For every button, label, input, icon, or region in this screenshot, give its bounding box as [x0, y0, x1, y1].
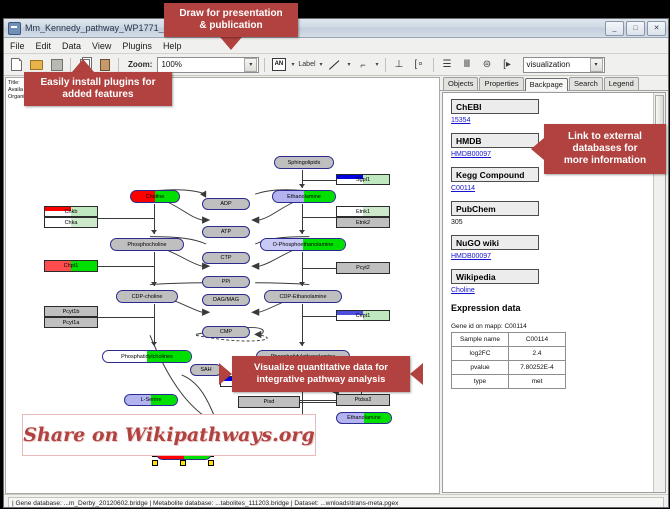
gene-pcyt1b[interactable]: Pcyt1b — [44, 306, 98, 317]
metabolite-label: L-Serine — [141, 397, 162, 403]
visualization-combobox[interactable]: visualization ▾ — [523, 57, 605, 73]
edge-pcyt2-connector — [302, 268, 336, 269]
metabolite-atp[interactable]: ATP — [202, 226, 250, 238]
expression-data-heading: Expression data — [451, 303, 665, 313]
zoom-combobox[interactable]: 100% ▾ — [157, 57, 259, 73]
gene-cept1[interactable]: Cept1 — [336, 310, 390, 321]
menu-item-edit[interactable]: Edit — [35, 41, 53, 51]
status-text: | Gene database: ...m_Derby_20120602.bri… — [8, 497, 664, 508]
expression-table: Sample nameC00114log2FC2.4pvalue7.80252E… — [451, 332, 566, 389]
metabolite-ethanolamine-right[interactable]: Ethanolamine — [336, 412, 392, 424]
visualization-value: visualization — [527, 60, 571, 69]
metabolite-label: Phosphatidylcholines — [121, 354, 173, 360]
db-header-hmdb: HMDB — [451, 133, 539, 148]
edge-ptdss2-connector — [300, 400, 336, 401]
share-banner-text: Share on Wikipathways.org — [23, 424, 314, 446]
align-icon[interactable]: ⊥ — [391, 56, 408, 73]
tab-backpage[interactable]: Backpage — [525, 78, 568, 91]
menu-item-help[interactable]: Help — [162, 41, 183, 51]
metabolite-choline[interactable]: Choline — [130, 190, 180, 203]
metabolite-sphingolipids[interactable]: Sphingolipids — [274, 156, 334, 169]
draw-callout-line2: & publication — [199, 20, 262, 31]
gene-label: Pcyt2 — [356, 265, 370, 271]
gene-label: Chkb — [65, 209, 78, 215]
edge-cept1-connector — [302, 316, 336, 317]
metabolite-cdp-ethanolamine[interactable]: CDP-Ethanolamine — [264, 290, 342, 303]
edge-pcyt1-connector — [98, 317, 154, 318]
window-controls[interactable]: _ □ ✕ — [605, 21, 666, 36]
metabolite-label: Ethanolamine — [287, 194, 321, 200]
metabolite-dagmag[interactable]: DAG/MAG — [202, 294, 250, 306]
gene-chkb[interactable]: Chkb — [44, 206, 98, 217]
db-header-chebi: ChEBI — [451, 99, 539, 114]
expr-value: 7.80252E-4 — [509, 361, 566, 375]
save-icon[interactable] — [48, 56, 65, 73]
receptor-icon[interactable]: ⌐ — [354, 56, 371, 73]
table-row: Sample nameC00114 — [452, 333, 566, 347]
gene-id-label: Gene id on mapp: C00114 — [451, 323, 665, 330]
open-folder-icon[interactable] — [28, 56, 45, 73]
db-value-nugo-wiki[interactable]: HMDB00097 — [451, 253, 665, 260]
menu-item-plugins[interactable]: Plugins — [121, 41, 153, 51]
metabolite-label: DAG/MAG — [213, 297, 239, 303]
maximize-button[interactable]: □ — [626, 21, 645, 36]
gene-label: Pisd — [264, 399, 275, 405]
db-header-wikipedia: Wikipedia — [451, 269, 539, 284]
toolbar-separator-2 — [118, 58, 119, 72]
status-bar: | Gene database: ...m_Derby_20120602.bri… — [4, 494, 668, 508]
tab-objects[interactable]: Objects — [443, 77, 478, 90]
metabolite-adp[interactable]: ADP — [202, 198, 250, 210]
arrow-icon — [299, 230, 305, 234]
arrow-icon — [151, 230, 157, 234]
metabolite-phosphatidylcholines[interactable]: Phosphatidylcholines — [102, 350, 192, 363]
arrow-icon — [299, 282, 305, 286]
metabolite-label: SAH — [200, 367, 211, 373]
draw-callout-line1: Draw for presentation — [179, 8, 282, 19]
gene-label: Pcyt1b — [63, 309, 80, 315]
gene-pcyt2[interactable]: Pcyt2 — [336, 262, 390, 274]
annotation-icon[interactable]: AN — [270, 56, 287, 73]
meta-organism: Organi — [8, 94, 25, 101]
metabolite-label: ATP — [221, 229, 231, 235]
db-header-nugo-wiki: NuGO wiki — [451, 235, 539, 250]
metabolite-label: Ethanolamine — [347, 415, 381, 421]
db-value-pubchem: 305 — [451, 219, 665, 226]
arrow-icon — [299, 342, 305, 346]
order-icon[interactable]: ⊜ — [479, 56, 496, 73]
metabolite-label: Choline — [146, 194, 165, 200]
metabolite-ctp[interactable]: CTP — [202, 252, 250, 264]
plugins-callout-arrow-icon — [72, 59, 94, 72]
expr-key: type — [452, 375, 509, 389]
expr-key: log2FC — [452, 347, 509, 361]
arrow-icon — [151, 342, 157, 346]
gene-label: Pcyt1a — [63, 320, 80, 326]
toolbar-separator-1 — [70, 58, 71, 72]
expr-key: pvalue — [452, 361, 509, 375]
tab-search[interactable]: Search — [569, 77, 603, 90]
new-file-icon[interactable] — [8, 56, 25, 73]
edge-phosphocholine-cdpcholine — [154, 252, 155, 286]
paste-icon[interactable] — [96, 56, 113, 73]
tab-legend[interactable]: Legend — [604, 77, 639, 90]
chevron-down-icon[interactable]: ▾ — [590, 58, 603, 72]
db-value-wikipedia[interactable]: Choline — [451, 287, 665, 294]
visualize-callout-arrow-icon-right — [410, 363, 423, 385]
edge-ophospho-cdpethanolamine — [302, 252, 303, 286]
gene-chka[interactable]: Chka — [44, 217, 98, 228]
distribute-icon[interactable]: Ⅲ — [459, 56, 476, 73]
chevron-down-icon[interactable]: ▾ — [244, 58, 257, 72]
metabolite-label: CDP-Ethanolamine — [279, 294, 326, 300]
menu-item-view[interactable]: View — [91, 41, 112, 51]
db-value-kegg-compound[interactable]: C00114 — [451, 185, 665, 192]
gene-label: Etnk1 — [356, 209, 370, 215]
metabolite-cmp[interactable]: CMP — [202, 326, 250, 338]
metabolite-label: O-Phosphoethanolamine — [273, 242, 334, 248]
chevron-down-icon[interactable]: ▾ — [375, 61, 378, 68]
metabolite-ethanolamine[interactable]: Ethanolamine — [272, 190, 336, 203]
expr-value: C00114 — [509, 333, 566, 347]
table-row: pvalue7.80252E-4 — [452, 361, 566, 375]
metabolite-ppi[interactable]: PPi — [202, 276, 250, 288]
metabolite-sah[interactable]: SAH — [190, 364, 222, 376]
edge-chk-connector — [98, 218, 154, 219]
expr-value: met — [509, 375, 566, 389]
menu-item-data[interactable]: Data — [61, 41, 82, 51]
close-button[interactable]: ✕ — [647, 21, 666, 36]
side-panel-tabs: Objects Properties Backpage Search Legen… — [440, 77, 668, 91]
edge-chpt1-connector — [98, 266, 154, 267]
share-banner: Share on Wikipathways.org — [22, 414, 316, 456]
toolbar-separator-4 — [385, 58, 386, 72]
visualize-callout: Visualize quantitative data for integrat… — [232, 356, 410, 392]
layer-icon[interactable]: [▸ — [499, 56, 516, 73]
table-row: log2FC2.4 — [452, 347, 566, 361]
arrow-icon — [151, 282, 157, 286]
visualize-callout-line1: Visualize quantitative data for — [254, 362, 388, 373]
zoom-label: Zoom: — [128, 60, 152, 69]
metabolite-label: Sphingolipids — [288, 160, 321, 166]
chevron-down-icon[interactable]: ▾ — [291, 61, 294, 68]
chevron-down-icon[interactable]: ▾ — [347, 61, 350, 68]
plugins-callout-line2: added features — [62, 89, 133, 100]
metabolite-label: CMP — [220, 329, 232, 335]
meta-title: Title: — [8, 80, 25, 87]
externaldb-callout-line1: Link to external — [568, 131, 642, 142]
gene-label: Cept1 — [356, 313, 371, 319]
gene-pcyt1a[interactable]: Pcyt1a — [44, 317, 98, 328]
stack-icon[interactable]: ☰ — [439, 56, 456, 73]
gene-pisd[interactable]: Pisd — [238, 396, 300, 408]
toolbar-separator-3 — [264, 58, 265, 72]
metabolite-label: PPi — [222, 279, 231, 285]
minimize-button[interactable]: _ — [605, 21, 624, 36]
db-header-pubchem: PubChem — [451, 201, 539, 216]
tab-properties[interactable]: Properties — [479, 77, 523, 90]
gene-ptdss2[interactable]: Ptdss2 — [336, 394, 390, 406]
zoom-value: 100% — [161, 60, 181, 69]
visualize-callout-line2: integrative pathway analysis — [257, 374, 386, 385]
pathway-meta: Title: Availa Organi — [8, 80, 25, 101]
edge-sgpl1-connector — [302, 180, 336, 181]
gene-sgpl1[interactable]: Sgpl1 — [336, 174, 390, 185]
expr-key: Sample name — [452, 333, 509, 347]
chevron-down-icon[interactable]: ▾ — [319, 61, 322, 68]
db-header-kegg-compound: Kegg Compound — [451, 167, 539, 182]
gene-label: Chka — [65, 220, 78, 226]
metabolite-label: ADP — [220, 201, 231, 207]
external-db-callout-arrow-icon — [531, 138, 544, 160]
edge-etnk-connector — [302, 217, 336, 218]
arrow-icon — [299, 184, 305, 188]
menu-item-file[interactable]: File — [9, 41, 26, 51]
gene-etnk2[interactable]: Etnk2 — [336, 217, 390, 228]
metabolite-l-serine-left[interactable]: L-Serine — [124, 394, 178, 406]
app-icon — [8, 22, 21, 35]
metabolite-o-phosphoethanolamine[interactable]: O-Phosphoethanolamine — [260, 238, 346, 251]
gene-chpt1[interactable]: Chpt1 — [44, 260, 98, 272]
gene-etnk1[interactable]: Etnk1 — [336, 206, 390, 217]
metabolite-cdp-choline[interactable]: CDP-choline — [116, 290, 178, 303]
edge-cdpethanolamine-ptdethanolamine — [302, 304, 303, 346]
table-row: typemet — [452, 375, 566, 389]
expr-value: 2.4 — [509, 347, 566, 361]
draw-callout-arrow-icon — [220, 37, 242, 50]
draw-callout: Draw for presentation & publication — [164, 3, 298, 37]
metabolite-label: Phosphocholine — [127, 242, 166, 248]
menu-bar: File Edit Data View Plugins Help — [4, 38, 668, 54]
line-icon[interactable] — [326, 56, 343, 73]
edge-pisd-connector — [300, 402, 336, 403]
metabolite-phosphocholine[interactable]: Phosphocholine — [110, 238, 184, 251]
metabolite-label: CDP-choline — [132, 294, 163, 300]
group-icon[interactable]: [∘ — [411, 56, 428, 73]
gene-label: Chpt1 — [64, 263, 79, 269]
plugins-callout-line1: Easily install plugins for — [40, 77, 155, 88]
db-value-chebi[interactable]: 15354 — [451, 117, 665, 124]
external-db-callout: Link to external databases for more info… — [544, 124, 666, 174]
edge-cdpcholine-ptdcholine — [154, 304, 155, 346]
externaldb-callout-line3: more information — [564, 155, 646, 166]
gene-label: Sgpl1 — [356, 177, 370, 183]
plugins-callout: Easily install plugins for added feature… — [24, 72, 172, 106]
meta-availability: Availa — [8, 87, 25, 94]
externaldb-callout-line2: databases for — [572, 143, 637, 154]
metabolite-label: CTP — [221, 255, 232, 261]
label-icon[interactable]: Label — [298, 56, 315, 73]
title-bar: Mm_Kennedy_pathway_WP1771_45176.gpml _ □… — [4, 19, 668, 38]
visualize-callout-arrow-icon-left — [219, 363, 232, 385]
toolbar-separator-5 — [433, 58, 434, 72]
gene-label: Etnk2 — [356, 220, 370, 226]
gene-label: Ptdss2 — [355, 397, 372, 403]
